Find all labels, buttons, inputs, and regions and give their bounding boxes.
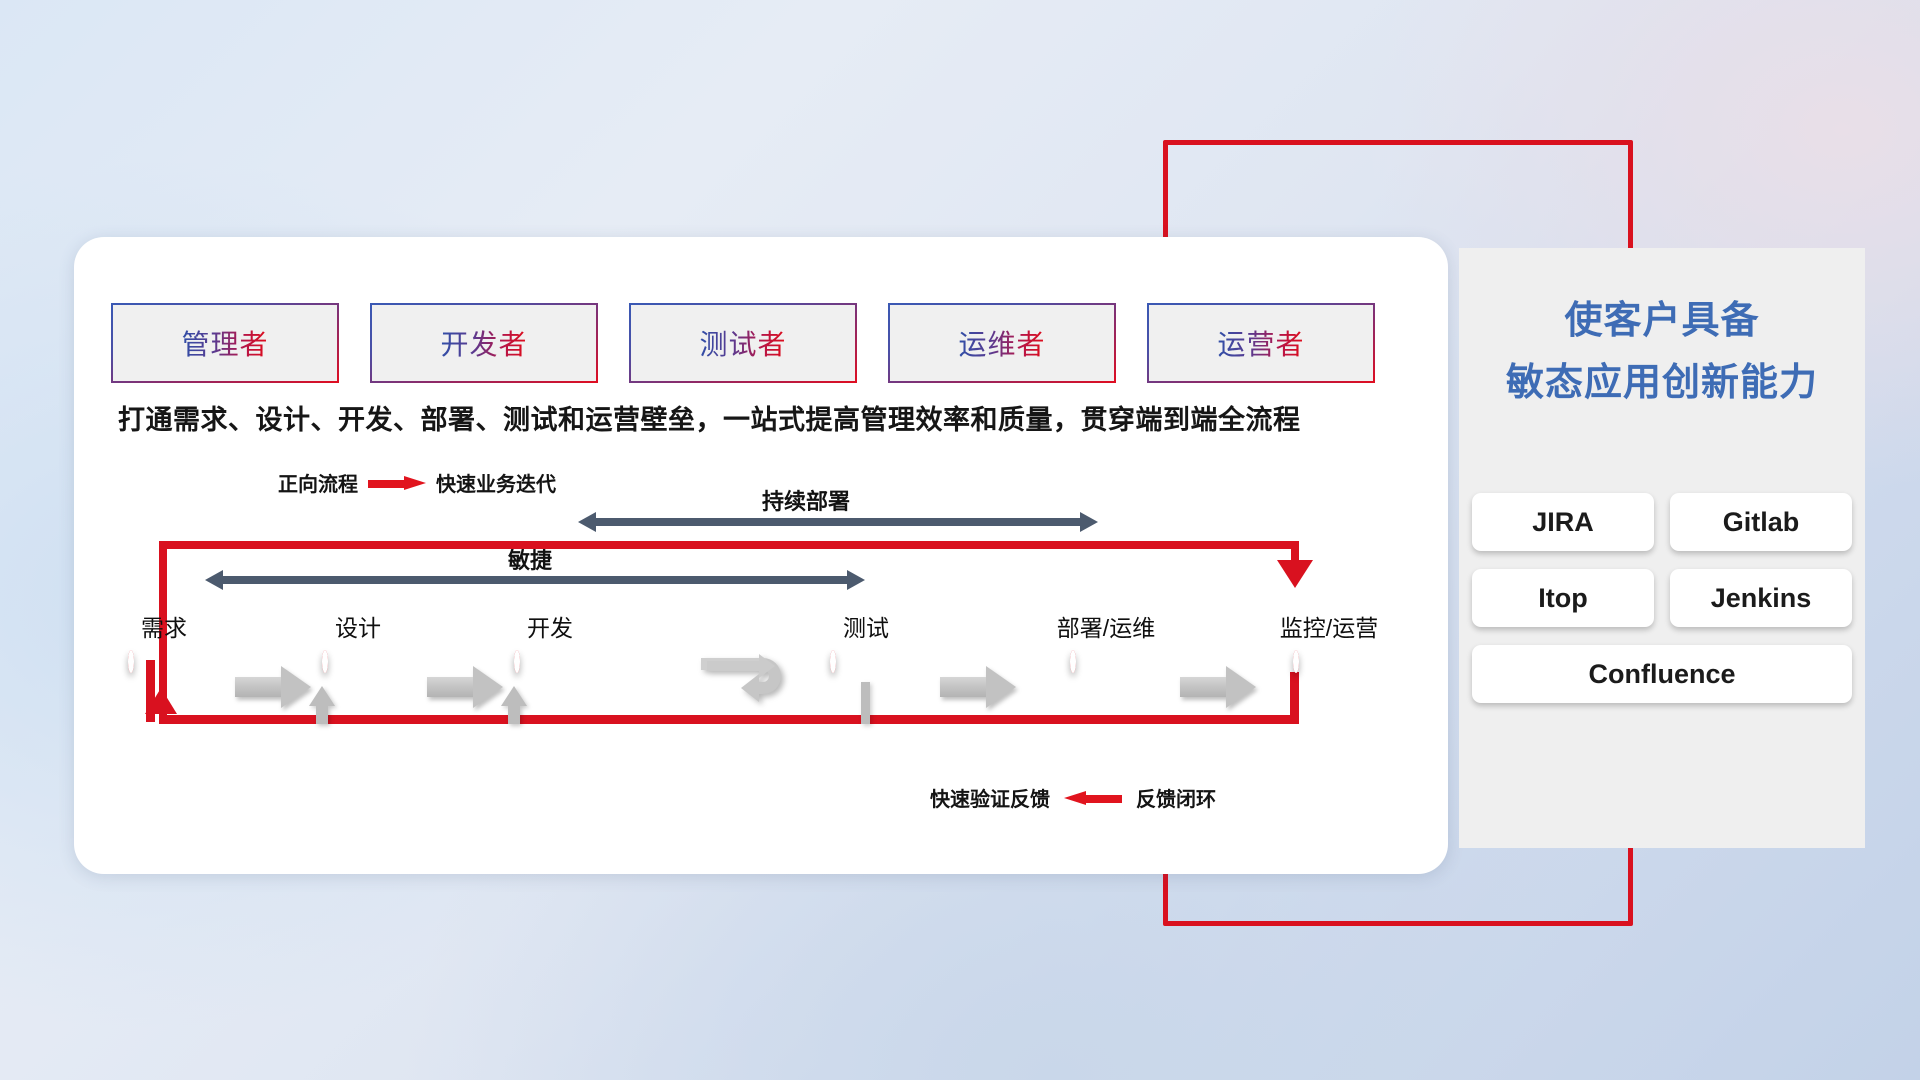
headline-text: 打通需求、设计、开发、部署、测试和运营壁垒，一站式提高管理效率和质量，贯穿端到端…	[118, 398, 1301, 437]
role-box-business-operator[interactable]: 运营者	[1147, 303, 1375, 383]
panel-title: 使客户具备 敏态应用创新能力	[1459, 248, 1865, 414]
arrowhead-up	[501, 686, 527, 706]
value-proposition-panel: 使客户具备 敏态应用创新能力 JIRA Gitlab Itop Jenkins …	[1459, 248, 1865, 848]
tool-chip-gitlab[interactable]: Gitlab	[1670, 493, 1852, 551]
pipeline-node-testing[interactable]: 测试	[830, 653, 902, 671]
flow-arrow-requirements-to-design-icon	[235, 666, 311, 708]
double-arrow-continuous-deployment-icon	[578, 512, 1098, 532]
iteration-uturn-arrow-icon	[701, 652, 803, 716]
arrowhead-right	[1226, 666, 1256, 708]
role-box-developer[interactable]: 开发者	[370, 303, 598, 383]
role-label: 管理者	[181, 323, 268, 363]
arrowhead-right	[1080, 512, 1098, 532]
role-label: 开发者	[440, 323, 527, 363]
arrow-shaft	[1180, 677, 1228, 697]
legend-forward-source-label: 正向流程	[278, 468, 358, 497]
role-box-tester[interactable]: 测试者	[629, 303, 857, 383]
arrowhead-right	[986, 666, 1016, 708]
stem-red-monitoring	[1290, 672, 1299, 724]
tool-chip-list: JIRA Gitlab Itop Jenkins Confluence	[1472, 493, 1852, 703]
role-label: 测试者	[699, 323, 786, 363]
arrow-shaft	[221, 576, 849, 584]
role-label: 运维者	[958, 323, 1045, 363]
red-arrow-left-icon	[1064, 791, 1122, 805]
arrow-shaft	[594, 518, 1082, 526]
pipeline-node-label: 测试	[843, 609, 889, 643]
role-box-operations-engineer[interactable]: 运维者	[888, 303, 1116, 383]
tool-chip-jenkins[interactable]: Jenkins	[1670, 569, 1852, 627]
panel-title-line-2: 敏态应用创新能力	[1459, 352, 1865, 414]
red-arrow-right-icon	[368, 476, 426, 490]
pipeline-node-dot	[514, 650, 520, 673]
legend-feedback-source-label: 反馈闭环	[1136, 783, 1216, 812]
pipeline-node-requirements[interactable]: 需求	[128, 653, 200, 671]
arrowhead-right	[473, 666, 503, 708]
up-arrow-design-icon	[309, 686, 335, 724]
flow-arrow-testing-to-deploy-icon	[940, 666, 1016, 708]
arrow-shaft	[427, 677, 475, 697]
roles-row: 管理者 开发者 测试者 运维者 运营者	[111, 303, 1375, 383]
pipeline-node-label: 设计	[335, 609, 381, 643]
legend-forward-flow: 正向流程 快速业务迭代	[278, 468, 556, 497]
arrow-stem	[508, 704, 520, 724]
feedback-loop-down-arrowhead-icon	[1277, 560, 1313, 588]
panel-title-line-1: 使客户具备	[1459, 290, 1865, 352]
tool-chip-jira[interactable]: JIRA	[1472, 493, 1654, 551]
pipeline-node-dot	[1070, 650, 1076, 673]
arrowhead-right	[847, 570, 865, 590]
arrow-stem	[316, 704, 328, 724]
flow-arrow-deploy-to-monitor-icon	[1180, 666, 1256, 708]
legend-forward-target-label: 快速业务迭代	[436, 468, 556, 497]
arrow-shaft	[940, 677, 988, 697]
up-arrow-development-icon	[501, 686, 527, 724]
pipeline-node-label: 部署/运维	[1057, 609, 1155, 643]
pipeline-node-monitor-operations[interactable]: 监控/运营	[1293, 653, 1365, 671]
feedback-loop-top-segment	[159, 541, 1299, 549]
double-arrow-agile-icon	[205, 570, 865, 590]
pipeline-node-development[interactable]: 开发	[514, 653, 586, 671]
slide-canvas: 管理者 开发者 测试者 运维者 运营者 打通需求、设计、开发、部署、测试和运营壁…	[0, 0, 1920, 1080]
pipeline-node-label: 监控/运营	[1280, 609, 1378, 643]
pipeline-node-dot	[128, 650, 134, 673]
tool-chip-itop[interactable]: Itop	[1472, 569, 1654, 627]
legend-feedback-loop: 快速验证反馈 反馈闭环	[930, 783, 1216, 812]
role-label: 运营者	[1217, 323, 1304, 363]
arrow-shaft	[235, 677, 283, 697]
pipeline-node-label: 需求	[141, 609, 187, 643]
pipeline-node-dot	[1293, 650, 1299, 673]
pipeline-node-label: 开发	[527, 609, 573, 643]
flow-arrow-design-to-development-icon	[427, 666, 503, 708]
role-box-manager[interactable]: 管理者	[111, 303, 339, 383]
arrowhead-right	[281, 666, 311, 708]
tool-chip-confluence[interactable]: Confluence	[1472, 645, 1852, 703]
pipeline-node-dot	[830, 650, 836, 673]
pipeline-node-design[interactable]: 设计	[322, 653, 394, 671]
pipeline-node-deploy-ops[interactable]: 部署/运维	[1070, 653, 1142, 671]
arrowhead-up	[309, 686, 335, 706]
pipeline-node-dot	[322, 650, 328, 673]
legend-feedback-result-label: 快速验证反馈	[930, 783, 1050, 812]
stem-testing	[861, 682, 870, 724]
